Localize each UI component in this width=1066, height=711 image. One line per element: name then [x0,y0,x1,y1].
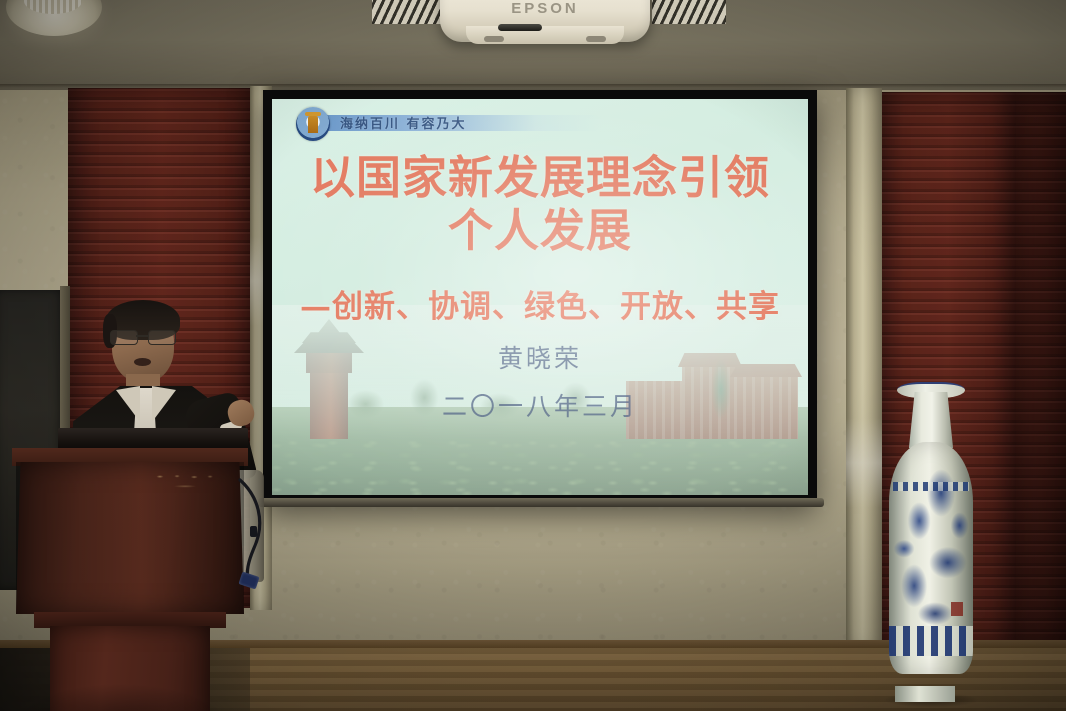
lecture-hall-photo: EPSON [0,0,1066,711]
podium-cast-shadow [0,598,250,711]
projector-brand-label: EPSON [440,0,650,17]
glasses-bridge [136,335,148,337]
projection-screen: 海纳百川 有容乃大 以国家新发展理念引领 个人发展 —创新、协调、绿色、开放、共… [263,90,817,504]
slide-title-line-2: 个人发展 [272,204,808,257]
projector-foot-left [484,36,504,42]
presentation-slide: 海纳百川 有容乃大 以国家新发展理念引领 个人发展 —创新、协调、绿色、开放、共… [272,99,808,495]
marble-pilaster-right [846,88,882,650]
slide-date: 二〇一八年三月 [272,387,808,423]
projector-vent-left [372,0,446,24]
vase-lower-band [889,626,973,656]
porcelain-vase [883,382,979,702]
vase-body [889,442,973,674]
podium-emblem [152,470,218,492]
wood-wall-panel-far-right [1016,92,1066,650]
glasses-lens-right [148,330,176,345]
downlight-bulb [24,0,82,14]
vga-cable [236,478,278,588]
projector-foot-right [586,36,606,42]
seal-building-glyph [308,116,318,133]
presenter-mouth [134,358,151,366]
glasses-icon [110,330,176,343]
vase-neck [907,392,955,448]
glasses-lens-left [110,330,138,345]
pilaster-highlight [846,418,882,508]
screen-bottom-bar [258,498,824,507]
projector: EPSON [440,0,650,42]
podium [0,428,250,711]
slide-title-line-1: 以国家新发展理念引领 [272,151,808,204]
podium-top-edge [58,428,248,450]
slide-title: 以国家新发展理念引领 个人发展 [272,151,808,257]
slide-subtitle: —创新、协调、绿色、开放、共享 [272,281,808,326]
vase-maker-mark [951,602,963,616]
slide-author: 黄晓荣 [272,339,808,375]
projector-lens-icon [498,24,542,31]
projector-vent-right [652,0,726,24]
slide-motto-text: 海纳百川 有容乃大 [340,113,467,132]
university-seal-icon [296,107,330,141]
vase-upper-band [893,482,969,491]
vase-foot [895,686,955,702]
